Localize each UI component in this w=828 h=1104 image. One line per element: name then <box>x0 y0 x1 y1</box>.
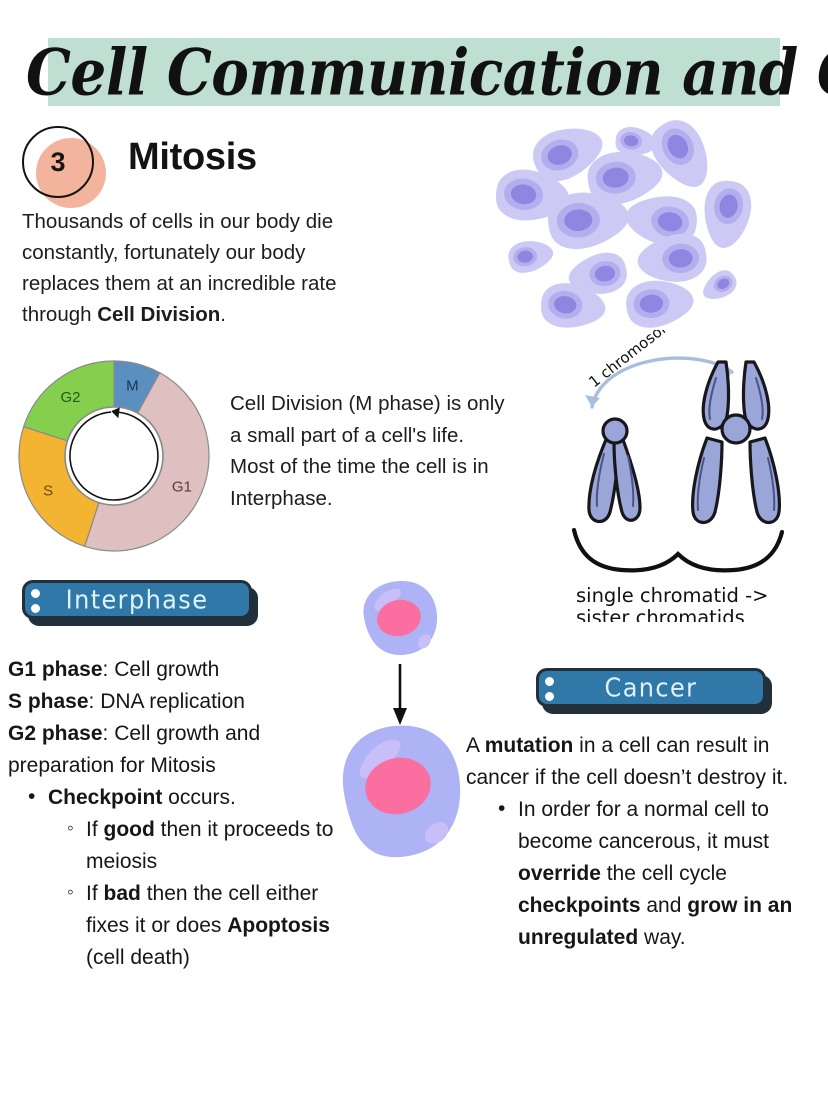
cell-cluster-illustration <box>482 108 782 343</box>
cancer-bullet-list: In order for a normal cell to become can… <box>466 794 818 954</box>
division-arrow <box>393 664 407 725</box>
chromosome-svg: 1 chromosome single chromatid -> <box>536 330 828 622</box>
donut-label-m: M <box>126 377 138 394</box>
brace <box>574 530 782 570</box>
banner-face: Interphase <box>22 580 252 619</box>
donut-hub <box>65 407 163 505</box>
cancer-b-p2: the cell cycle <box>601 862 727 885</box>
phase-g2-label: G2 phase <box>8 722 103 745</box>
chromosome-arrow-label: 1 chromosome <box>585 330 684 391</box>
interphase-bullet-list: Checkpoint occurs. If good then it proce… <box>8 782 348 974</box>
cancer-content: A mutation in a cell can result in cance… <box>466 730 818 954</box>
intro-text-bold: Cell Division <box>97 303 220 326</box>
intro-paragraph: Thousands of cells in our body die const… <box>22 206 382 330</box>
chromosome-caption-line2: sister chromatids <box>576 606 745 622</box>
cancer-pre: A <box>466 734 485 757</box>
banner-face: Cancer <box>536 668 766 707</box>
phase-line-g2: G2 phase: Cell growth and preparation fo… <box>8 718 348 782</box>
donut-segments: MG1SG2 <box>19 361 209 551</box>
checkpoint-label: Checkpoint <box>48 786 162 809</box>
cancer-b-p3: and <box>641 894 688 917</box>
phase-s-desc: : DNA replication <box>89 690 245 713</box>
donut-svg: MG1SG2 <box>8 356 220 556</box>
good-bold: good <box>104 818 155 841</box>
small-cell <box>363 581 437 655</box>
phase-s-label: S phase <box>8 690 89 713</box>
phase-line-s: S phase: DNA replication <box>8 686 348 718</box>
bullet-checkpoint: Checkpoint occurs. If good then it proce… <box>48 782 348 974</box>
cell-cycle-donut-chart: MG1SG2 <box>8 356 220 556</box>
cluster-cells <box>493 112 756 333</box>
sub-bullet-good: If good then it proceeds to meiosis <box>86 814 348 878</box>
section-number: 3 <box>22 126 94 198</box>
donut-label-g1: G1 <box>172 478 192 495</box>
page-title-wrap: Cell Communication and Cell Cycle <box>0 26 828 110</box>
cancer-b-p1: In order for a normal cell to become can… <box>518 798 769 853</box>
intro-text-post: . <box>220 303 226 326</box>
checkpoint-desc: occurs. <box>162 786 236 809</box>
page-title: Cell Communication and Cell Cycle <box>26 32 808 115</box>
interphase-content: G1 phase: Cell growth S phase: DNA repli… <box>8 654 348 974</box>
section-heading: Mitosis <box>128 136 257 179</box>
cancer-b-override: override <box>518 862 601 885</box>
banner-cancer[interactable]: Cancer <box>536 668 772 714</box>
phase-line-g1: G1 phase: Cell growth <box>8 654 348 686</box>
section-number-badge: 3 <box>22 126 108 208</box>
apoptosis-bold: Apoptosis <box>227 914 330 937</box>
banner-dots-icon <box>31 589 42 617</box>
bad-pre: If <box>86 882 104 905</box>
banner-interphase-label: Interphase <box>66 584 209 614</box>
donut-label-g2: G2 <box>60 389 80 406</box>
chromosome-figure: 1 chromosome single chromatid -> <box>536 330 828 622</box>
banner-dots-icon <box>545 677 556 705</box>
cancer-bold-mutation: mutation <box>485 734 574 757</box>
donut-note: Cell Division (M phase) is only a small … <box>230 388 512 514</box>
phase-g1-desc: : Cell growth <box>103 658 220 681</box>
cancer-paragraph: A mutation in a cell can result in cance… <box>466 730 818 794</box>
sister-chromatids <box>693 362 780 523</box>
sub-bullet-bad: If bad then the cell either fixes it or … <box>86 878 348 974</box>
cell-cluster-svg <box>482 108 782 343</box>
cancer-bullet: In order for a normal cell to become can… <box>518 794 818 954</box>
large-cell <box>343 726 460 858</box>
phase-g1-label: G1 phase <box>8 658 103 681</box>
cancer-b-checkpoints: checkpoints <box>518 894 641 917</box>
banner-cancer-label: Cancer <box>605 672 698 702</box>
bad-bold: bad <box>104 882 141 905</box>
good-pre: If <box>86 818 104 841</box>
cancer-b-p4: way. <box>638 926 685 949</box>
checkpoint-sub-list: If good then it proceeds to meiosis If b… <box>48 814 348 974</box>
donut-label-s: S <box>43 483 53 500</box>
apoptosis-post: (cell death) <box>86 946 190 969</box>
chromosome-caption-line1: single chromatid -> <box>576 584 769 607</box>
banner-interphase[interactable]: Interphase <box>22 580 258 626</box>
